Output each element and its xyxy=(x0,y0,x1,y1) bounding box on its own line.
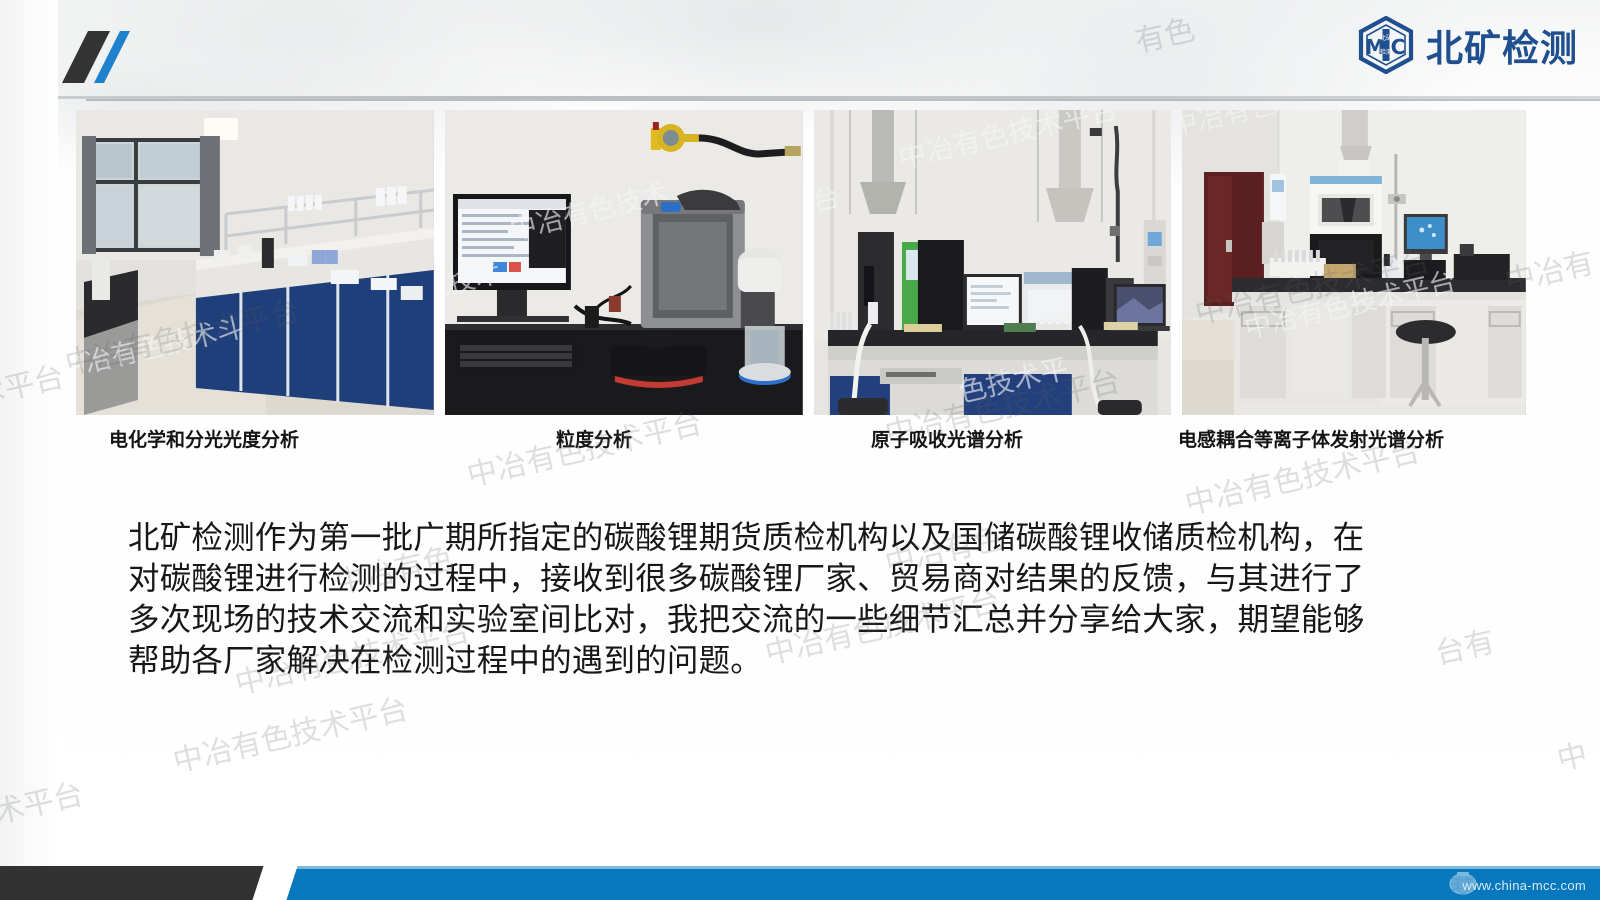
body-line-3: 多次现场的技术交流和实验室间比对，我把交流的一些细节汇总并分享给大家，期望能够 xyxy=(128,600,1428,641)
header-divider-shadow xyxy=(86,99,1600,101)
brand-lockup: M C 北矿 检测 北矿检测 xyxy=(1356,14,1578,76)
presentation-slide: M C 北矿 检测 北矿检测 xyxy=(0,0,1600,900)
photo-caption-4: 电感耦合等离子体发射光谱分析 xyxy=(1178,425,1444,452)
watermark-text: 中 xyxy=(1552,729,1591,779)
slide-body-paragraph: 北矿检测作为第一批广期所指定的碳酸锂期货质检机构以及国储碳酸锂收储质检机构，在 … xyxy=(128,518,1428,682)
svg-text:C: C xyxy=(1391,35,1406,59)
photo-caption-3: 原子吸收光谱分析 xyxy=(871,425,1023,452)
svg-text:检测: 检测 xyxy=(1380,48,1392,56)
slide-footer: www.china-mcc.com xyxy=(0,862,1600,900)
watermark-text: 中冶有色技术平台 xyxy=(168,684,412,781)
slide-header: M C 北矿 检测 北矿检测 xyxy=(0,0,1600,100)
photo-caption-1: 电化学和分光光度分析 xyxy=(109,425,299,452)
watermark-text: 技术平台 xyxy=(0,769,87,839)
footer-blue-segment xyxy=(282,866,1600,900)
photo-atomic-absorption-spectrometer-bench: 中冶有色技术平台 平台 色技术平 xyxy=(814,110,1172,415)
watermark-text: 术平台 xyxy=(0,352,68,415)
slide-left-edge-shade xyxy=(0,0,58,900)
mcc-hexagon-logo-icon: M C 北矿 检测 xyxy=(1356,16,1416,74)
photo-laboratory-bench-room: 中冶有色技术斗 xyxy=(76,110,434,415)
body-line-1: 北矿检测作为第一批广期所指定的碳酸锂期货质检机构以及国储碳酸锂收储质检机构，在 xyxy=(128,518,1428,559)
watermark-text: 台有 xyxy=(1430,617,1498,673)
footer-dark-segment xyxy=(0,866,272,900)
photo-caption-2: 粒度分析 xyxy=(556,425,632,452)
double-slash-logo-icon xyxy=(62,21,182,91)
footer-website-url: www.china-mcc.com xyxy=(1462,878,1586,893)
photo-strip: 中冶有色技术斗 xyxy=(76,110,1526,415)
photo-captions: 电化学和分光光度分析 粒度分析 原子吸收光谱分析 电感耦合等离子体发射光谱分析 xyxy=(76,425,1526,455)
body-line-2: 对碳酸锂进行检测的过程中，接收到很多碳酸锂厂家、贸易商对结果的反馈，与其进行了 xyxy=(128,559,1428,600)
photo-particle-size-analyzer-desk: 中冶有色技术 色技术 xyxy=(445,110,803,415)
brand-name-text: 北矿检测 xyxy=(1426,18,1578,72)
body-line-4: 帮助各厂家解决在检测过程中的遇到的问题。 xyxy=(128,641,1428,682)
svg-text:北矿: 北矿 xyxy=(1380,34,1392,42)
photo-icp-emission-spectrometer-room: 中冶有色 中冶有色技术平台 xyxy=(1182,110,1526,415)
